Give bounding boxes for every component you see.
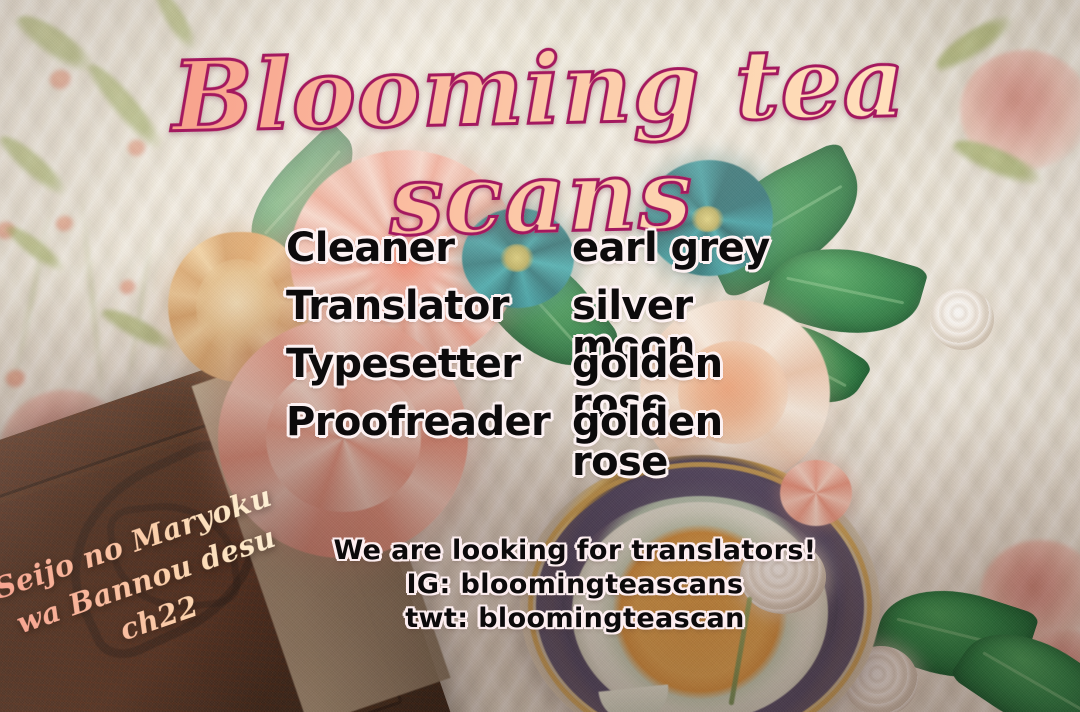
- recruitment-block: We are looking for translators! IG: bloo…: [0, 534, 1080, 636]
- credit-role-cleaner: Cleaner: [286, 228, 572, 268]
- printed-rose-top-right: [940, 20, 1080, 220]
- credit-row: Translator silver moon: [286, 286, 826, 344]
- white-pompom-flower-right: [930, 288, 994, 350]
- credit-role-typesetter: Typesetter: [286, 344, 572, 384]
- credits-list: Cleaner earl grey Translator silver moon…: [286, 228, 826, 460]
- credit-row: Typesetter golden rose: [286, 344, 826, 402]
- credit-role-translator: Translator: [286, 286, 572, 326]
- credit-role-proofreader: Proofreader: [286, 402, 572, 442]
- credits-page: Blooming tea scans Cleaner earl grey Tra…: [0, 0, 1080, 712]
- credit-row: Proofreader golden rose: [286, 402, 826, 460]
- recruitment-headline: We are looking for translators!: [70, 534, 1080, 568]
- credit-name-proofreader: golden rose: [572, 402, 826, 482]
- credit-name-cleaner: earl grey: [572, 228, 826, 268]
- twitter-handle: twt: bloomingteascan: [70, 602, 1080, 636]
- credit-row: Cleaner earl grey: [286, 228, 826, 286]
- instagram-handle: IG: bloomingteascans: [70, 568, 1080, 602]
